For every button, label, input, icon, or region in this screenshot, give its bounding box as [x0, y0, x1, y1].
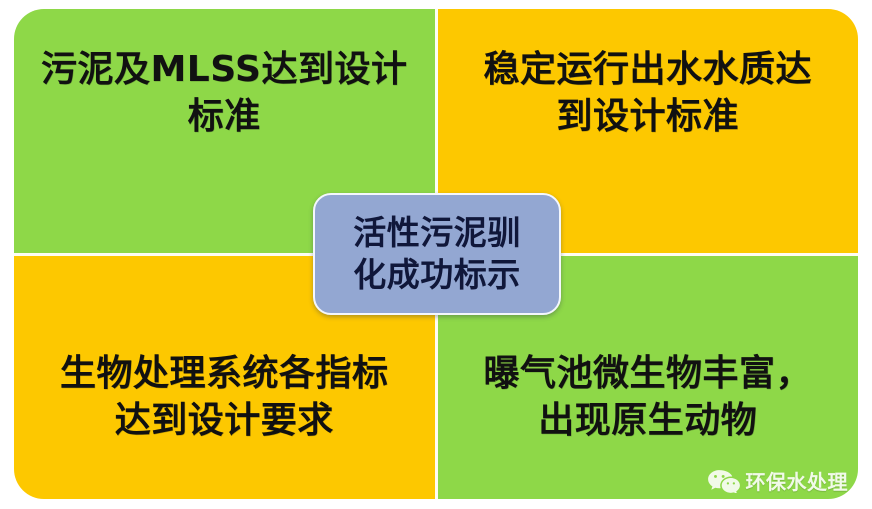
quadrant-bottom-right-label: 曝气池微生物丰富， 出现原生动物: [483, 351, 812, 445]
wechat-icon: [707, 469, 741, 493]
center-callout-box[interactable]: 活性污泥驯 化成功标示: [313, 193, 561, 315]
quadrant-top-right-label: 稳定运行出水水质达 到设计标准: [483, 47, 812, 141]
diagram-canvas: 污泥及MLSS达到设计 标准 稳定运行出水水质达 到设计标准 生物处理系统各指标…: [0, 0, 872, 509]
quadrant-bottom-left-label: 生物处理系统各指标 达到设计要求: [60, 351, 389, 445]
center-callout-label: 活性污泥驯 化成功标示: [353, 212, 521, 296]
watermark-account-name: 环保水处理: [746, 466, 849, 495]
quadrant-top-left-label: 污泥及MLSS达到设计 标准: [41, 47, 408, 141]
watermark: 环保水处理: [707, 466, 849, 495]
